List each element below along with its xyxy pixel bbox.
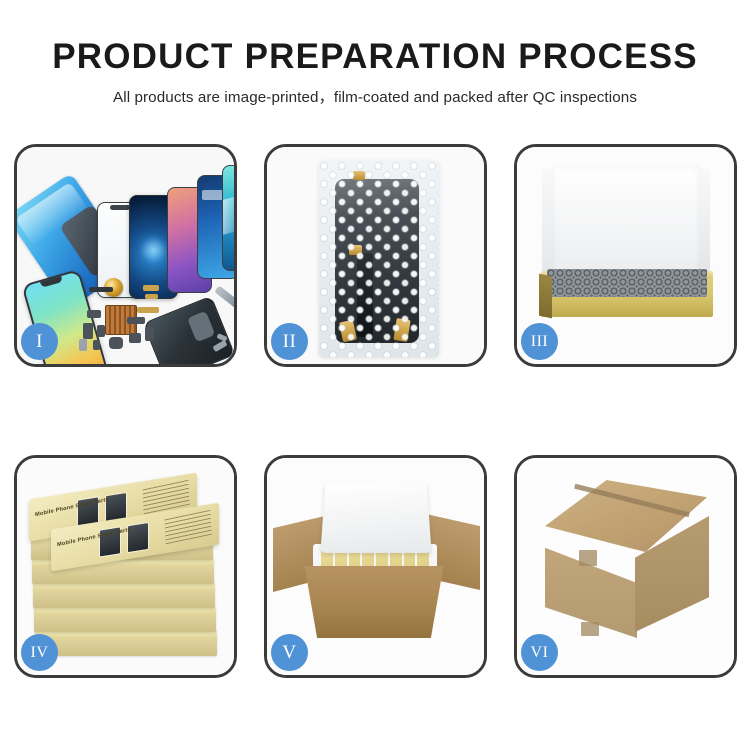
stacked-boxes-panel[interactable]: Mobile Phone Spare Parts Mobile Phone Sp… (14, 455, 237, 678)
sealed-carton-panel[interactable]: VI (514, 455, 737, 678)
spare-part (145, 327, 154, 341)
stacked-box (34, 606, 216, 632)
phone-parts-panel[interactable]: I (14, 144, 237, 367)
spare-part (127, 317, 145, 324)
process-panel-grid: I II III (14, 144, 737, 678)
bubble-wrapped-screen-panel[interactable]: II (264, 144, 487, 367)
carton-body (295, 566, 453, 638)
page-header: PRODUCT PREPARATION PROCESS All products… (0, 0, 750, 107)
bubble-wrap-bag (319, 161, 439, 357)
page-subtitle: All products are image-printed，film-coat… (0, 85, 750, 107)
spare-part (79, 339, 87, 351)
spare-part (93, 340, 100, 350)
phone-display-d (222, 165, 234, 271)
step-number-badge: V (271, 634, 308, 671)
step-number-badge: VI (521, 634, 558, 671)
spare-part (137, 307, 159, 313)
spare-part (87, 310, 101, 318)
box-stack: Mobile Phone Spare Parts Mobile Phone Sp… (29, 480, 225, 662)
box-side-flap (539, 274, 552, 319)
spare-part (83, 323, 93, 339)
step-number-badge: III (521, 323, 558, 360)
step-number-badge: II (271, 323, 308, 360)
page-title: PRODUCT PREPARATION PROCESS (0, 38, 750, 76)
foam-lined-box-panel[interactable]: III (514, 144, 737, 367)
spare-part (129, 333, 141, 343)
stacked-box (33, 582, 215, 608)
packed-carton-panel[interactable]: V (264, 455, 487, 678)
bubble-texture (319, 161, 439, 357)
spare-part (89, 287, 113, 292)
spare-part (97, 325, 105, 337)
box-print-lines (164, 509, 211, 544)
step-number-badge: IV (21, 634, 58, 671)
carton-tape (581, 622, 599, 636)
white-foam-liner (551, 165, 701, 281)
bubble-wrapped-contents (547, 269, 707, 297)
foam-lid (320, 482, 431, 553)
step-number-badge: I (21, 323, 58, 360)
carton-tape (579, 550, 597, 566)
spare-part (109, 337, 123, 349)
spare-part (145, 294, 158, 299)
spare-part (143, 285, 159, 291)
stacked-box (35, 630, 217, 656)
